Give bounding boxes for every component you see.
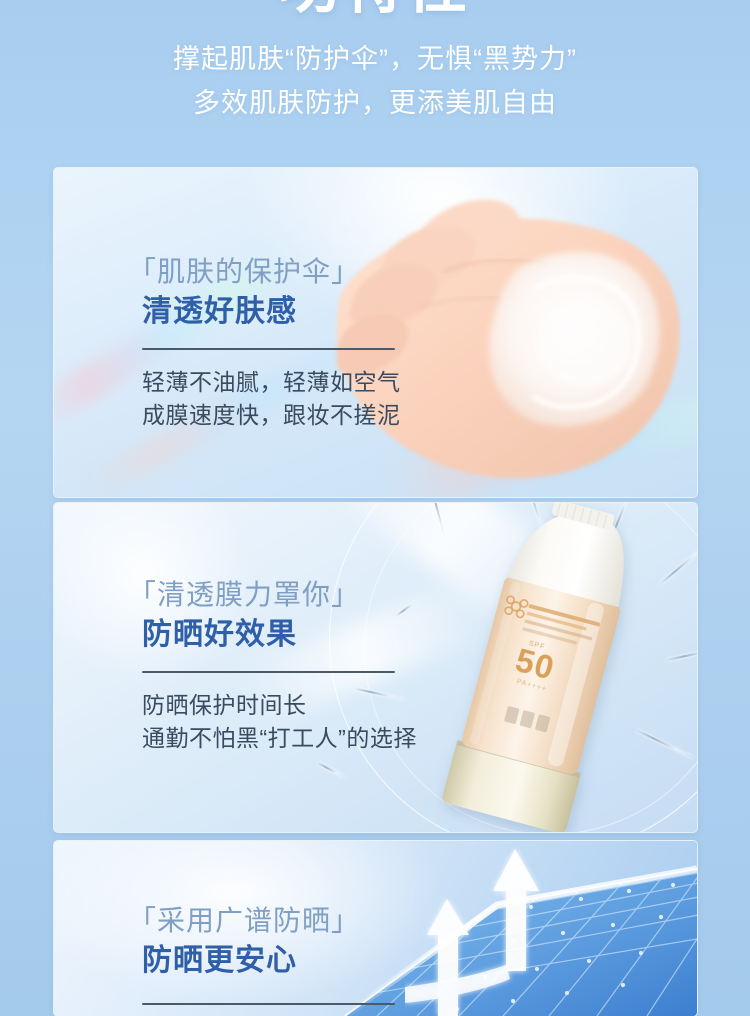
page-subtitle-line-2: 多效肌肤防护，更添美肌自由 [0,86,750,120]
feature-card-skin-feel[interactable]: 「肌肤的保护伞」 清透好肤感 轻薄不油腻，轻薄如空气 成膜速度快，跟妆不搓泥 [54,168,697,497]
card-text-block: 「清透膜力罩你」 防晒好效果 防晒保护时间长 通勤不怕黑“打工人”的选择 [142,577,417,755]
card-text-block: 「采用广谱防晒」 防晒更安心 [142,903,395,1005]
card-body-line-1: 防晒保护时间长 [142,689,417,722]
card-divider [142,1003,395,1005]
card-divider [142,671,395,673]
feature-card-sun-protection[interactable]: SPF 50 PA++++ 「清透膜力罩你」 防晒好效果 防晒保护时间长 通勤不… [54,503,697,832]
card-quote: 「肌肤的保护伞」 [128,254,401,290]
card-body-line-1: 轻薄不油腻，轻薄如空气 [142,366,401,399]
page-subtitle-line-1: 撑起肌肤“防护伞”，无惧“黑势力” [0,42,750,76]
card-text-block: 「肌肤的保护伞」 清透好肤感 轻薄不油腻，轻薄如空气 成膜速度快，跟妆不搓泥 [142,254,401,432]
uv-deflection-arrows [405,841,645,1016]
card-quote: 「清透膜力罩你」 [128,577,417,613]
card-body-line-2: 通勤不怕黑“打工人”的选择 [142,722,417,755]
card-heading: 清透好肤感 [142,292,401,332]
card-body-line-2: 成膜速度快，跟妆不搓泥 [142,399,401,432]
page-title: 功特性 [0,0,750,18]
card-heading: 防晒好效果 [142,615,417,655]
page-header: 功特性 撑起肌肤“防护伞”，无惧“黑势力” 多效肌肤防护，更添美肌自由 [0,0,750,150]
card-divider [142,348,395,350]
card-heading: 防晒更安心 [142,941,395,981]
card-quote: 「采用广谱防晒」 [128,903,395,939]
sunscreen-tube-image: SPF 50 PA++++ [384,503,697,832]
feature-card-broad-spectrum[interactable]: 「采用广谱防晒」 防晒更安心 [54,841,697,1016]
